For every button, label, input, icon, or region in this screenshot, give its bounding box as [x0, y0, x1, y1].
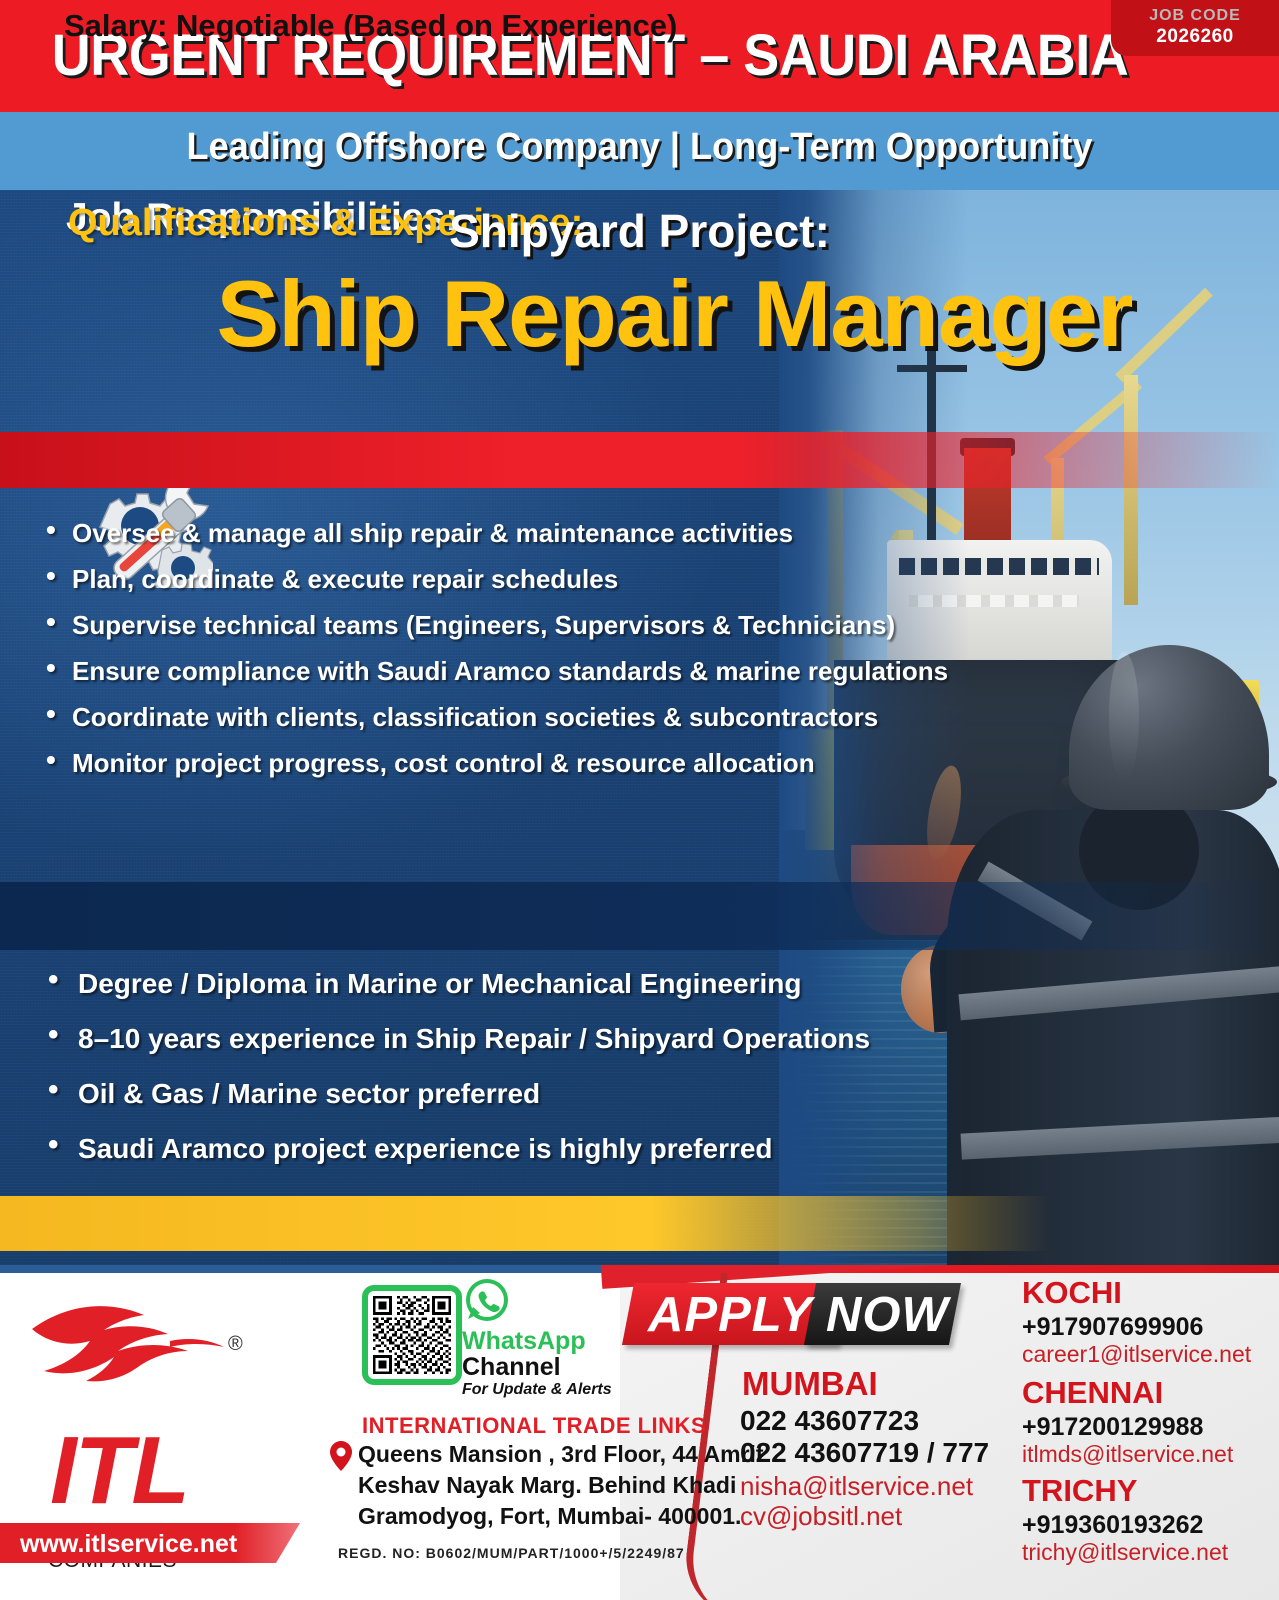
list-item: Degree / Diploma in Marine or Mechanical… [40, 970, 860, 998]
job-title-block: Shipyard Project: Ship Repair Manager [0, 190, 1279, 368]
list-item: 8–10 years experience in Ship Repair / S… [40, 1025, 860, 1053]
qualifications-heading-band [0, 882, 1279, 950]
responsibilities-list: Oversee & manage all ship repair & maint… [40, 520, 860, 796]
itl-logo: ® ITL GROUP OF COMPANIES [20, 1293, 290, 1543]
list-item: Oil & Gas / Marine sector preferred [40, 1080, 860, 1108]
registered-trademark-icon: ® [228, 1333, 243, 1356]
list-item: Coordinate with clients, classification … [40, 704, 860, 730]
subtitle-banner: Leading Offshore Company | Long-Term Opp… [0, 112, 1279, 190]
job-position-title: Ship Repair Manager [0, 260, 1279, 368]
list-item: Oversee & manage all ship repair & maint… [40, 520, 860, 546]
salary-band [0, 1196, 1050, 1251]
job-code-label: JOB CODE [1111, 7, 1279, 25]
salary-text: Salary: Negotiable (Based on Experience) [64, 8, 677, 44]
itl-wordmark: ITL [50, 1423, 188, 1519]
project-line: Shipyard Project: [0, 190, 1279, 258]
job-code-value: 2026260 [1111, 26, 1279, 48]
subtitle-text: Leading Offshore Company | Long-Term Opp… [32, 112, 1247, 169]
job-code-badge: JOB CODE 2026260 [1111, 0, 1279, 56]
list-item: Ensure compliance with Saudi Aramco stan… [40, 658, 860, 684]
website-url[interactable]: www.itlservice.net [20, 1530, 237, 1559]
list-item: Monitor project progress, cost control &… [40, 750, 860, 776]
list-item: Saudi Aramco project experience is highl… [40, 1135, 860, 1163]
responsibilities-heading-band [0, 432, 1279, 488]
list-item: Supervise technical teams (Engineers, Su… [40, 612, 860, 638]
main-content-panel: Shipyard Project: Ship Repair Manager Jo… [0, 190, 1279, 1265]
eagle-icon [20, 1293, 250, 1418]
list-item: Plan, coordinate & execute repair schedu… [40, 566, 860, 592]
qualifications-list: Degree / Diploma in Marine or Mechanical… [40, 970, 860, 1190]
